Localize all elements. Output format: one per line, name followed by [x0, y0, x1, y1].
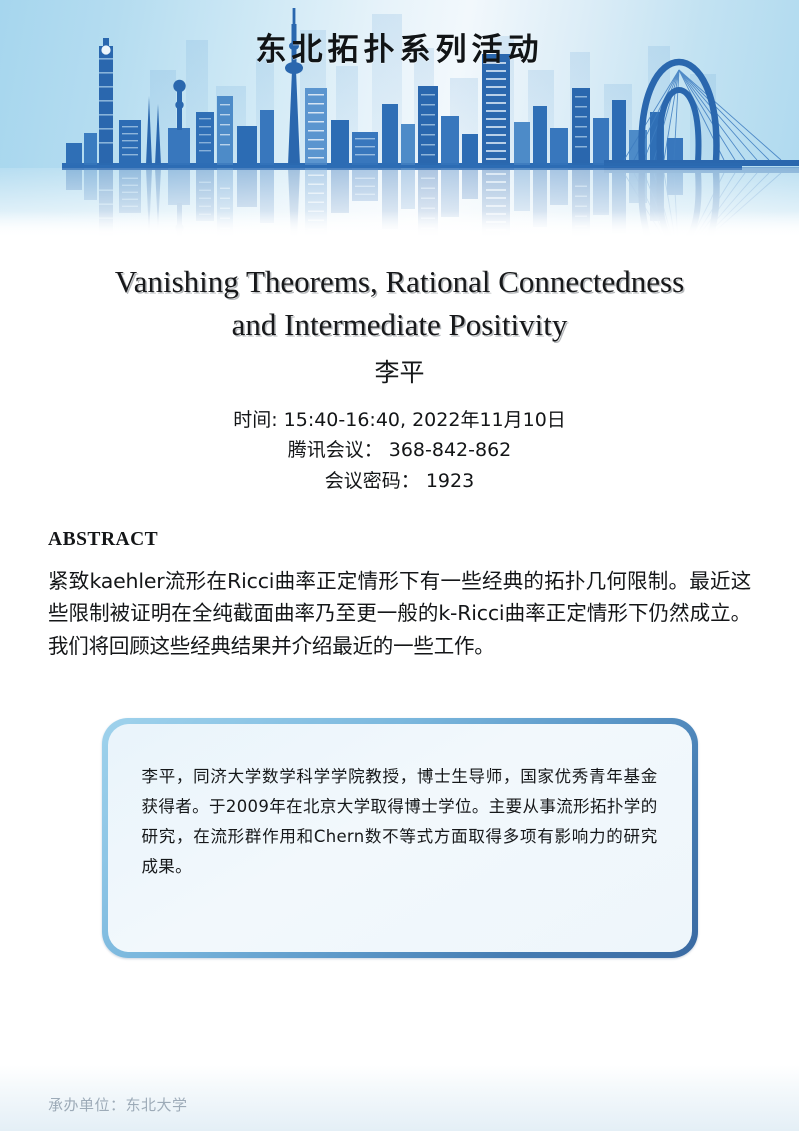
talk-title-line-1: Vanishing Theorems, Rational Connectedne…: [48, 261, 751, 304]
speaker-bio-box: 李平，同济大学数学科学学院教授，博士生导师，国家优秀青年基金获得者。于2009年…: [102, 718, 698, 958]
series-title: 东北拓扑系列活动: [0, 24, 799, 69]
meeting-password: 会议密码： 1923: [48, 466, 751, 497]
poster-content: Vanishing Theorems, Rational Connectedne…: [0, 261, 799, 958]
speaker-bio-inner: 李平，同济大学数学科学学院教授，博士生导师，国家优秀青年基金获得者。于2009年…: [108, 724, 692, 952]
meeting-time: 时间: 15:40-16:40, 2022年11月10日: [48, 405, 751, 436]
abstract-heading: ABSTRACT: [48, 529, 751, 551]
speaker-name: 李平: [48, 353, 751, 389]
talk-title-line-2: and Intermediate Positivity: [48, 304, 751, 347]
page-title: Vanishing Theorems, Rational Connectedne…: [48, 261, 751, 347]
meeting-platform-id: 腾讯会议： 368-842-862: [48, 435, 751, 466]
abstract-body: 紧致kaehler流形在Ricci曲率正定情形下有一些经典的拓扑几何限制。最近这…: [48, 565, 751, 662]
meeting-details: 时间: 15:40-16:40, 2022年11月10日 腾讯会议： 368-8…: [48, 405, 751, 497]
poster-footer: 承办单位：东北大学: [0, 1065, 799, 1131]
banner-bottom-fade: [0, 211, 799, 237]
speaker-bio-text: 李平，同济大学数学科学学院教授，博士生导师，国家优秀青年基金获得者。于2009年…: [142, 762, 658, 882]
poster-banner: 东北拓扑系列活动: [0, 0, 799, 237]
organizer-label: 承办单位：东北大学: [48, 1094, 188, 1115]
